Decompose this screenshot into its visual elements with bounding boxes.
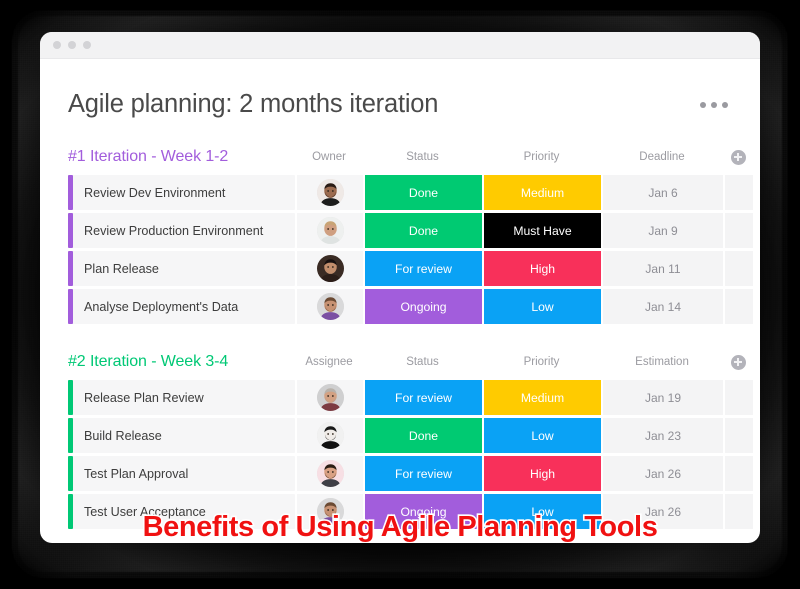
- avatar-blonde-woman[interactable]: [317, 217, 344, 244]
- kebab-dot: [700, 102, 706, 108]
- board-header: Agile planning: 2 months iteration: [68, 59, 732, 133]
- row-tail-cell: [725, 418, 753, 453]
- column-header-owner[interactable]: Owner: [295, 151, 363, 163]
- status-badge[interactable]: For review: [365, 251, 482, 286]
- add-column-cell: [723, 355, 753, 370]
- table-row[interactable]: Review Production Environment DoneMust H…: [68, 213, 732, 248]
- avatar-glasses-man[interactable]: [317, 422, 344, 449]
- section-title[interactable]: #2 Iteration - Week 3-4: [68, 353, 295, 371]
- assignee-cell[interactable]: [297, 418, 363, 453]
- assignee-cell[interactable]: [297, 494, 363, 529]
- column-header-deadline[interactable]: Deadline: [601, 151, 723, 163]
- priority-badge[interactable]: Low: [484, 418, 601, 453]
- priority-badge[interactable]: High: [484, 456, 601, 491]
- column-header-status[interactable]: Status: [363, 356, 482, 368]
- section-header-row: #2 Iteration - Week 3-4AssigneeStatusPri…: [68, 349, 732, 375]
- close-icon[interactable]: [53, 41, 61, 49]
- assignee-cell[interactable]: [297, 456, 363, 491]
- row-tail-cell: [725, 494, 753, 529]
- table-row[interactable]: Analyse Deployment's Data OngoingLowJan …: [68, 289, 732, 324]
- priority-badge[interactable]: Medium: [484, 175, 601, 210]
- minimize-icon[interactable]: [68, 41, 76, 49]
- column-header-priority[interactable]: Priority: [482, 356, 601, 368]
- page-title: Agile planning: 2 months iteration: [68, 90, 438, 119]
- task-name-cell[interactable]: Release Plan Review: [68, 380, 295, 415]
- kebab-dot: [711, 102, 717, 108]
- table-row[interactable]: Review Dev Environment DoneMediumJan 6: [68, 175, 732, 210]
- priority-badge[interactable]: Low: [484, 289, 601, 324]
- assignee-cell[interactable]: [297, 251, 363, 286]
- status-badge[interactable]: Done: [365, 418, 482, 453]
- date-cell[interactable]: Jan 26: [603, 456, 723, 491]
- assignee-cell[interactable]: [297, 175, 363, 210]
- avatar-dark-hair-woman[interactable]: [317, 255, 344, 282]
- column-header-assignee[interactable]: Assignee: [295, 356, 363, 368]
- row-tail-cell: [725, 175, 753, 210]
- task-name-cell[interactable]: Plan Release: [68, 251, 295, 286]
- avatar-curly-beard-man[interactable]: [317, 293, 344, 320]
- table-row[interactable]: Release Plan Review For reviewMediumJan …: [68, 380, 732, 415]
- row-tail-cell: [725, 289, 753, 324]
- section-header-row: #1 Iteration - Week 1-2OwnerStatusPriori…: [68, 144, 732, 170]
- table-row[interactable]: Test User Acceptance OngoingLowJan 26: [68, 494, 732, 529]
- column-header-priority[interactable]: Priority: [482, 151, 601, 163]
- date-cell[interactable]: Jan 11: [603, 251, 723, 286]
- row-tail-cell: [725, 213, 753, 248]
- screenshot-stage: Agile planning: 2 months iteration #1 It…: [0, 0, 800, 589]
- assignee-cell[interactable]: [297, 289, 363, 324]
- assignee-cell[interactable]: [297, 380, 363, 415]
- status-badge[interactable]: Ongoing: [365, 289, 482, 324]
- date-cell[interactable]: Jan 9: [603, 213, 723, 248]
- table-row[interactable]: Test Plan Approval For reviewHighJan 26: [68, 456, 732, 491]
- task-name-cell[interactable]: Build Release: [68, 418, 295, 453]
- date-cell[interactable]: Jan 6: [603, 175, 723, 210]
- priority-badge[interactable]: Medium: [484, 380, 601, 415]
- task-name-cell[interactable]: Review Production Environment: [68, 213, 295, 248]
- avatar-curly-beard-man[interactable]: [317, 498, 344, 525]
- status-badge[interactable]: For review: [365, 380, 482, 415]
- status-badge[interactable]: Ongoing: [365, 494, 482, 529]
- task-name-cell[interactable]: Test User Acceptance: [68, 494, 295, 529]
- date-cell[interactable]: Jan 23: [603, 418, 723, 453]
- status-badge[interactable]: Done: [365, 213, 482, 248]
- kebab-menu-icon[interactable]: [700, 102, 732, 108]
- task-name-cell[interactable]: Analyse Deployment's Data: [68, 289, 295, 324]
- add-column-icon[interactable]: [731, 355, 746, 370]
- date-cell[interactable]: Jan 26: [603, 494, 723, 529]
- window-titlebar: [40, 32, 760, 59]
- column-header-estimation[interactable]: Estimation: [601, 356, 723, 368]
- kebab-dot: [722, 102, 728, 108]
- sections-container: #1 Iteration - Week 1-2OwnerStatusPriori…: [68, 144, 732, 529]
- priority-badge[interactable]: High: [484, 251, 601, 286]
- row-tail-cell: [725, 456, 753, 491]
- table-row[interactable]: Build Release DoneLowJan 23: [68, 418, 732, 453]
- row-tail-cell: [725, 251, 753, 286]
- row-tail-cell: [725, 380, 753, 415]
- section-title[interactable]: #1 Iteration - Week 1-2: [68, 148, 295, 166]
- avatar-short-hair-man[interactable]: [317, 460, 344, 487]
- board-section: #1 Iteration - Week 1-2OwnerStatusPriori…: [68, 144, 732, 324]
- board-section: #2 Iteration - Week 3-4AssigneeStatusPri…: [68, 349, 732, 529]
- browser-window: Agile planning: 2 months iteration #1 It…: [40, 32, 760, 543]
- board-content: Agile planning: 2 months iteration #1 It…: [40, 59, 760, 543]
- status-badge[interactable]: Done: [365, 175, 482, 210]
- table-row[interactable]: Plan Release For reviewHighJan 11: [68, 251, 732, 286]
- column-header-status[interactable]: Status: [363, 151, 482, 163]
- priority-badge[interactable]: Must Have: [484, 213, 601, 248]
- task-name-cell[interactable]: Test Plan Approval: [68, 456, 295, 491]
- status-badge[interactable]: For review: [365, 456, 482, 491]
- date-cell[interactable]: Jan 19: [603, 380, 723, 415]
- add-column-cell: [723, 150, 753, 165]
- add-column-icon[interactable]: [731, 150, 746, 165]
- priority-badge[interactable]: Low: [484, 494, 601, 529]
- avatar-bald-man[interactable]: [317, 384, 344, 411]
- avatar-bearded-man[interactable]: [317, 179, 344, 206]
- maximize-icon[interactable]: [83, 41, 91, 49]
- assignee-cell[interactable]: [297, 213, 363, 248]
- date-cell[interactable]: Jan 14: [603, 289, 723, 324]
- task-name-cell[interactable]: Review Dev Environment: [68, 175, 295, 210]
